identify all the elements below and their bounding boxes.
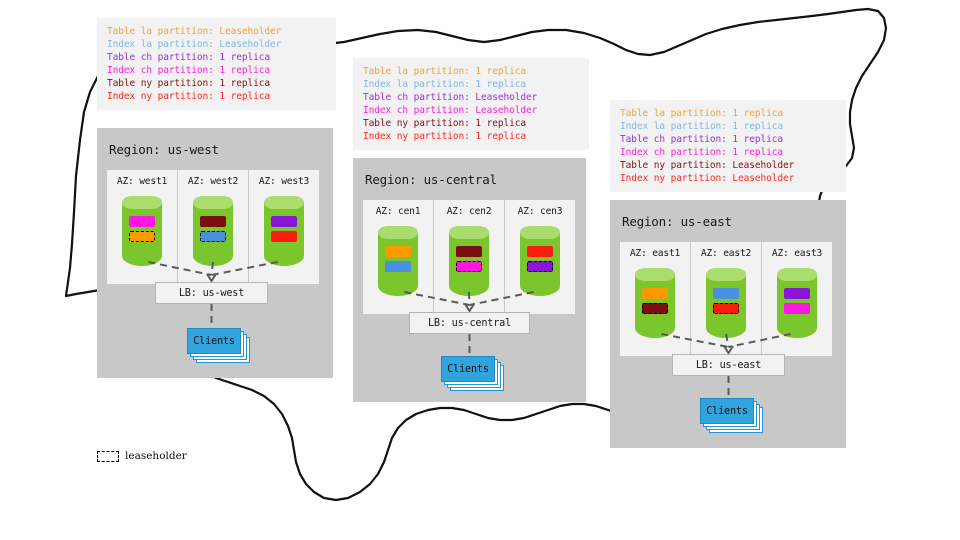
leaseholder-swatch-icon	[97, 451, 119, 462]
clients-node-us-west[interactable]: Clients	[187, 328, 251, 364]
leaseholder-key-label: leaseholder	[125, 450, 187, 462]
legend-line: Index la partition: 1 replica	[363, 78, 579, 91]
diagram-canvas: Table la partition: LeaseholderIndex la …	[0, 0, 960, 540]
legend-line: Index la partition: 1 replica	[620, 120, 836, 133]
load-balancer-us-west[interactable]: LB: us-west	[155, 282, 268, 304]
clients-label[interactable]: Clients	[700, 398, 754, 424]
load-balancer-us-central[interactable]: LB: us-central	[409, 312, 530, 334]
legend-line: Table ch partition: 1 replica	[107, 51, 326, 64]
load-balancer-us-east[interactable]: LB: us-east	[672, 354, 785, 376]
region-cluster-us-west: Table la partition: LeaseholderIndex la …	[97, 18, 336, 378]
clients-node-us-central[interactable]: Clients	[441, 356, 505, 392]
clients-label[interactable]: Clients	[187, 328, 241, 354]
region-cluster-us-east: Table la partition: 1 replicaIndex la pa…	[610, 100, 846, 448]
legend-line: Table ny partition: Leaseholder	[620, 159, 836, 172]
legend-line: Index ny partition: 1 replica	[363, 130, 579, 143]
region-cluster-us-central: Table la partition: 1 replicaIndex la pa…	[353, 58, 589, 402]
legend-line: Table ny partition: 1 replica	[107, 77, 326, 90]
legend-line: Table ch partition: 1 replica	[620, 133, 836, 146]
region-panel-us-east: Region: us-eastAZ: east1AZ: east2AZ: eas…	[610, 200, 846, 448]
partition-legend-us-central: Table la partition: 1 replicaIndex la pa…	[353, 58, 589, 150]
legend-line: Index ny partition: Leaseholder	[620, 172, 836, 185]
partition-legend-us-east: Table la partition: 1 replicaIndex la pa…	[610, 100, 846, 192]
clients-node-us-east[interactable]: Clients	[700, 398, 764, 434]
clients-label[interactable]: Clients	[441, 356, 495, 382]
legend-line: Table ch partition: Leaseholder	[363, 91, 579, 104]
partition-legend-us-west: Table la partition: LeaseholderIndex la …	[97, 18, 336, 110]
legend-line: Index ch partition: 1 replica	[620, 146, 836, 159]
legend-line: Table la partition: 1 replica	[620, 107, 836, 120]
leaseholder-key: leaseholder	[97, 450, 187, 462]
legend-line: Index ny partition: 1 replica	[107, 90, 326, 103]
legend-line: Index ch partition: 1 replica	[107, 64, 326, 77]
legend-line: Table la partition: Leaseholder	[107, 25, 326, 38]
legend-line: Index la partition: Leaseholder	[107, 38, 326, 51]
legend-line: Table la partition: 1 replica	[363, 65, 579, 78]
region-panel-us-central: Region: us-centralAZ: cen1AZ: cen2AZ: ce…	[353, 158, 586, 402]
legend-line: Index ch partition: Leaseholder	[363, 104, 579, 117]
region-panel-us-west: Region: us-westAZ: west1AZ: west2AZ: wes…	[97, 128, 333, 378]
legend-line: Table ny partition: 1 replica	[363, 117, 579, 130]
